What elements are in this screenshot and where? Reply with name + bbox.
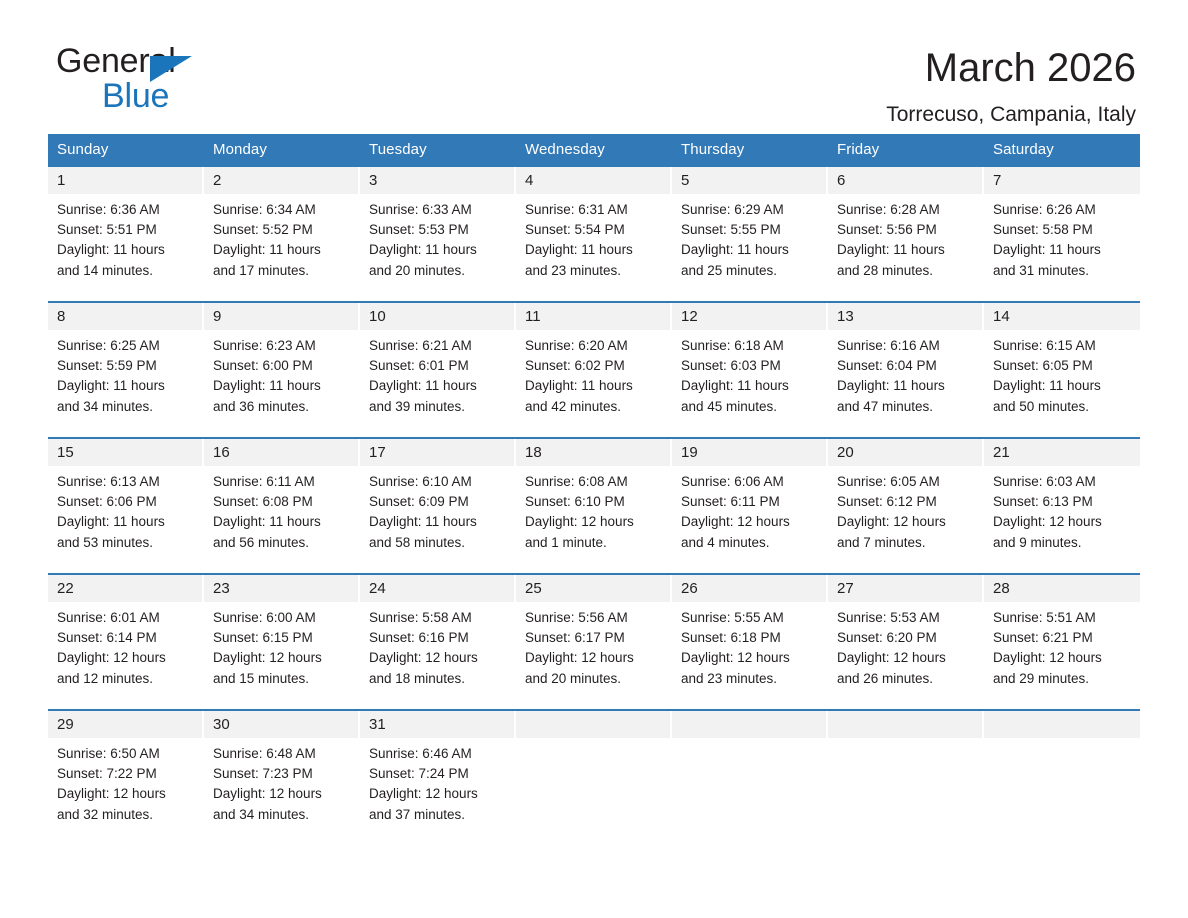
daylight-text-line2: and 25 minutes. (681, 261, 822, 281)
daylight-text-line2: and 9 minutes. (993, 533, 1134, 553)
sunset-text: Sunset: 6:18 PM (681, 628, 822, 648)
day-cell: Sunrise: 6:00 AM Sunset: 6:15 PM Dayligh… (204, 602, 360, 709)
sunrise-text: Sunrise: 6:00 AM (213, 608, 354, 628)
day-cell: Sunrise: 6:15 AM Sunset: 6:05 PM Dayligh… (984, 330, 1140, 437)
daylight-text-line2: and 50 minutes. (993, 397, 1134, 417)
day-cell: Sunrise: 6:48 AM Sunset: 7:23 PM Dayligh… (204, 738, 360, 845)
day-cell: Sunrise: 6:33 AM Sunset: 5:53 PM Dayligh… (360, 194, 516, 301)
day-info-row: Sunrise: 6:50 AM Sunset: 7:22 PM Dayligh… (48, 738, 1140, 845)
day-number[interactable]: 28 (984, 575, 1140, 602)
daylight-text-line1: Daylight: 12 hours (681, 648, 822, 668)
sunset-text: Sunset: 5:58 PM (993, 220, 1134, 240)
daylight-text-line1: Daylight: 12 hours (837, 512, 978, 532)
day-cell: Sunrise: 6:21 AM Sunset: 6:01 PM Dayligh… (360, 330, 516, 437)
weekday-header-thursday: Thursday (672, 134, 828, 165)
sunrise-text: Sunrise: 6:48 AM (213, 744, 354, 764)
day-cell: Sunrise: 5:53 AM Sunset: 6:20 PM Dayligh… (828, 602, 984, 709)
daylight-text-line2: and 15 minutes. (213, 669, 354, 689)
sunset-text: Sunset: 6:06 PM (57, 492, 198, 512)
sunset-text: Sunset: 5:55 PM (681, 220, 822, 240)
day-number-empty (984, 711, 1140, 738)
day-number[interactable]: 10 (360, 303, 516, 330)
calendar-week-row: 8 9 10 11 12 13 14 Sunrise: 6:25 AM Suns… (48, 301, 1140, 437)
day-number[interactable]: 8 (48, 303, 204, 330)
daylight-text-line1: Daylight: 11 hours (993, 376, 1134, 396)
daylight-text-line1: Daylight: 12 hours (213, 784, 354, 804)
sunset-text: Sunset: 6:21 PM (993, 628, 1134, 648)
day-cell-empty (672, 738, 828, 845)
day-number-row: 29 30 31 (48, 711, 1140, 738)
sunrise-text: Sunrise: 6:13 AM (57, 472, 198, 492)
sunset-text: Sunset: 5:52 PM (213, 220, 354, 240)
calendar-week-row: 22 23 24 25 26 27 28 Sunrise: 6:01 AM Su… (48, 573, 1140, 709)
daylight-text-line2: and 36 minutes. (213, 397, 354, 417)
daylight-text-line2: and 34 minutes. (213, 805, 354, 825)
daylight-text-line1: Daylight: 11 hours (837, 376, 978, 396)
sunrise-text: Sunrise: 6:36 AM (57, 200, 198, 220)
sunrise-text: Sunrise: 6:34 AM (213, 200, 354, 220)
sunrise-text: Sunrise: 5:53 AM (837, 608, 978, 628)
sunrise-text: Sunrise: 6:26 AM (993, 200, 1134, 220)
sunset-text: Sunset: 6:14 PM (57, 628, 198, 648)
day-cell: Sunrise: 6:26 AM Sunset: 5:58 PM Dayligh… (984, 194, 1140, 301)
calendar-week-row: 29 30 31 Sunrise: 6:50 AM Sunset: 7:22 P… (48, 709, 1140, 845)
day-number[interactable]: 23 (204, 575, 360, 602)
day-cell-empty (984, 738, 1140, 845)
sunset-text: Sunset: 5:51 PM (57, 220, 198, 240)
day-cell: Sunrise: 6:25 AM Sunset: 5:59 PM Dayligh… (48, 330, 204, 437)
sunrise-text: Sunrise: 6:10 AM (369, 472, 510, 492)
day-number[interactable]: 27 (828, 575, 984, 602)
day-number[interactable]: 14 (984, 303, 1140, 330)
daylight-text-line1: Daylight: 12 hours (213, 648, 354, 668)
daylight-text-line2: and 18 minutes. (369, 669, 510, 689)
day-number[interactable]: 20 (828, 439, 984, 466)
sunrise-text: Sunrise: 6:23 AM (213, 336, 354, 356)
weekday-header-row: Sunday Monday Tuesday Wednesday Thursday… (48, 134, 1140, 165)
daylight-text-line1: Daylight: 11 hours (525, 376, 666, 396)
daylight-text-line1: Daylight: 11 hours (57, 376, 198, 396)
page-title: March 2026 (886, 46, 1136, 91)
day-cell: Sunrise: 5:58 AM Sunset: 6:16 PM Dayligh… (360, 602, 516, 709)
day-number-row: 8 9 10 11 12 13 14 (48, 303, 1140, 330)
day-number-row: 1 2 3 4 5 6 7 (48, 167, 1140, 194)
day-info-row: Sunrise: 6:01 AM Sunset: 6:14 PM Dayligh… (48, 602, 1140, 709)
sunrise-text: Sunrise: 6:25 AM (57, 336, 198, 356)
calendar-table: Sunday Monday Tuesday Wednesday Thursday… (48, 134, 1140, 845)
day-number[interactable]: 21 (984, 439, 1140, 466)
sunset-text: Sunset: 6:03 PM (681, 356, 822, 376)
daylight-text-line2: and 34 minutes. (57, 397, 198, 417)
sunrise-text: Sunrise: 6:50 AM (57, 744, 198, 764)
sunset-text: Sunset: 6:11 PM (681, 492, 822, 512)
day-number[interactable]: 13 (828, 303, 984, 330)
daylight-text-line2: and 37 minutes. (369, 805, 510, 825)
day-cell: Sunrise: 6:08 AM Sunset: 6:10 PM Dayligh… (516, 466, 672, 573)
day-cell: Sunrise: 6:28 AM Sunset: 5:56 PM Dayligh… (828, 194, 984, 301)
day-info-row: Sunrise: 6:13 AM Sunset: 6:06 PM Dayligh… (48, 466, 1140, 573)
sunset-text: Sunset: 6:04 PM (837, 356, 978, 376)
sunrise-text: Sunrise: 6:29 AM (681, 200, 822, 220)
sunset-text: Sunset: 5:53 PM (369, 220, 510, 240)
daylight-text-line1: Daylight: 11 hours (369, 376, 510, 396)
sunrise-text: Sunrise: 6:01 AM (57, 608, 198, 628)
day-number[interactable]: 11 (516, 303, 672, 330)
daylight-text-line2: and 4 minutes. (681, 533, 822, 553)
sunrise-text: Sunrise: 6:16 AM (837, 336, 978, 356)
day-number[interactable]: 1 (48, 167, 204, 194)
daylight-text-line2: and 12 minutes. (57, 669, 198, 689)
day-number[interactable]: 16 (204, 439, 360, 466)
sunrise-text: Sunrise: 6:20 AM (525, 336, 666, 356)
sunrise-text: Sunrise: 6:46 AM (369, 744, 510, 764)
weekday-header-wednesday: Wednesday (516, 134, 672, 165)
sunrise-text: Sunrise: 6:11 AM (213, 472, 354, 492)
day-number[interactable]: 4 (516, 167, 672, 194)
daylight-text-line1: Daylight: 11 hours (57, 512, 198, 532)
daylight-text-line1: Daylight: 12 hours (837, 648, 978, 668)
sunset-text: Sunset: 6:13 PM (993, 492, 1134, 512)
day-cell: Sunrise: 6:31 AM Sunset: 5:54 PM Dayligh… (516, 194, 672, 301)
daylight-text-line2: and 28 minutes. (837, 261, 978, 281)
day-number[interactable]: 30 (204, 711, 360, 738)
daylight-text-line2: and 26 minutes. (837, 669, 978, 689)
sunset-text: Sunset: 6:00 PM (213, 356, 354, 376)
sunset-text: Sunset: 6:17 PM (525, 628, 666, 648)
daylight-text-line2: and 14 minutes. (57, 261, 198, 281)
daylight-text-line2: and 42 minutes. (525, 397, 666, 417)
title-block: March 2026 Torrecuso, Campania, Italy (886, 44, 1136, 127)
daylight-text-line1: Daylight: 12 hours (993, 512, 1134, 532)
day-number[interactable]: 19 (672, 439, 828, 466)
day-cell: Sunrise: 6:29 AM Sunset: 5:55 PM Dayligh… (672, 194, 828, 301)
logo-text-blue: Blue (102, 79, 169, 113)
day-number-empty (672, 711, 828, 738)
sunrise-text: Sunrise: 6:18 AM (681, 336, 822, 356)
day-cell-empty (516, 738, 672, 845)
calendar-week-row: 1 2 3 4 5 6 7 Sunrise: 6:36 AM Sunset: 5… (48, 165, 1140, 301)
location-subtitle: Torrecuso, Campania, Italy (886, 103, 1136, 127)
daylight-text-line1: Daylight: 11 hours (369, 240, 510, 260)
day-number[interactable]: 6 (828, 167, 984, 194)
daylight-text-line1: Daylight: 11 hours (213, 240, 354, 260)
generalblue-logo: General Blue (56, 44, 216, 116)
day-cell: Sunrise: 6:18 AM Sunset: 6:03 PM Dayligh… (672, 330, 828, 437)
day-number[interactable]: 22 (48, 575, 204, 602)
sunset-text: Sunset: 7:24 PM (369, 764, 510, 784)
sunrise-text: Sunrise: 5:56 AM (525, 608, 666, 628)
day-cell: Sunrise: 6:11 AM Sunset: 6:08 PM Dayligh… (204, 466, 360, 573)
daylight-text-line1: Daylight: 12 hours (993, 648, 1134, 668)
sunrise-text: Sunrise: 6:28 AM (837, 200, 978, 220)
day-cell: Sunrise: 6:36 AM Sunset: 5:51 PM Dayligh… (48, 194, 204, 301)
sunrise-text: Sunrise: 6:33 AM (369, 200, 510, 220)
day-number[interactable]: 9 (204, 303, 360, 330)
daylight-text-line1: Daylight: 12 hours (369, 648, 510, 668)
sunrise-text: Sunrise: 6:15 AM (993, 336, 1134, 356)
daylight-text-line2: and 23 minutes. (525, 261, 666, 281)
day-number[interactable]: 24 (360, 575, 516, 602)
day-number-empty (516, 711, 672, 738)
sunset-text: Sunset: 6:12 PM (837, 492, 978, 512)
day-cell: Sunrise: 6:46 AM Sunset: 7:24 PM Dayligh… (360, 738, 516, 845)
day-number[interactable]: 26 (672, 575, 828, 602)
daylight-text-line1: Daylight: 12 hours (525, 648, 666, 668)
sunset-text: Sunset: 7:23 PM (213, 764, 354, 784)
daylight-text-line2: and 29 minutes. (993, 669, 1134, 689)
sunrise-text: Sunrise: 6:31 AM (525, 200, 666, 220)
day-number-row: 15 16 17 18 19 20 21 (48, 439, 1140, 466)
page-header: General Blue March 2026 Torrecuso, Campa… (0, 0, 1188, 118)
day-cell: Sunrise: 6:34 AM Sunset: 5:52 PM Dayligh… (204, 194, 360, 301)
sunset-text: Sunset: 6:16 PM (369, 628, 510, 648)
day-number[interactable]: 12 (672, 303, 828, 330)
daylight-text-line1: Daylight: 11 hours (993, 240, 1134, 260)
day-number[interactable]: 2 (204, 167, 360, 194)
sunset-text: Sunset: 5:59 PM (57, 356, 198, 376)
day-info-row: Sunrise: 6:25 AM Sunset: 5:59 PM Dayligh… (48, 330, 1140, 437)
day-number-empty (828, 711, 984, 738)
sunrise-text: Sunrise: 5:58 AM (369, 608, 510, 628)
daylight-text-line1: Daylight: 11 hours (57, 240, 198, 260)
sunset-text: Sunset: 6:20 PM (837, 628, 978, 648)
daylight-text-line2: and 23 minutes. (681, 669, 822, 689)
daylight-text-line2: and 1 minute. (525, 533, 666, 553)
day-number-row: 22 23 24 25 26 27 28 (48, 575, 1140, 602)
daylight-text-line2: and 53 minutes. (57, 533, 198, 553)
daylight-text-line2: and 32 minutes. (57, 805, 198, 825)
weekday-header-sunday: Sunday (48, 134, 204, 165)
sunset-text: Sunset: 6:01 PM (369, 356, 510, 376)
day-number[interactable]: 18 (516, 439, 672, 466)
daylight-text-line1: Daylight: 11 hours (681, 376, 822, 396)
day-number[interactable]: 7 (984, 167, 1140, 194)
daylight-text-line1: Daylight: 12 hours (681, 512, 822, 532)
day-number[interactable]: 25 (516, 575, 672, 602)
day-cell: Sunrise: 6:20 AM Sunset: 6:02 PM Dayligh… (516, 330, 672, 437)
day-cell: Sunrise: 5:55 AM Sunset: 6:18 PM Dayligh… (672, 602, 828, 709)
daylight-text-line2: and 56 minutes. (213, 533, 354, 553)
sunset-text: Sunset: 5:56 PM (837, 220, 978, 240)
sunset-text: Sunset: 6:10 PM (525, 492, 666, 512)
daylight-text-line1: Daylight: 12 hours (525, 512, 666, 532)
day-info-row: Sunrise: 6:36 AM Sunset: 5:51 PM Dayligh… (48, 194, 1140, 301)
day-cell: Sunrise: 6:13 AM Sunset: 6:06 PM Dayligh… (48, 466, 204, 573)
day-number[interactable]: 17 (360, 439, 516, 466)
daylight-text-line1: Daylight: 11 hours (213, 512, 354, 532)
daylight-text-line1: Daylight: 12 hours (57, 784, 198, 804)
sunrise-text: Sunrise: 6:03 AM (993, 472, 1134, 492)
day-cell: Sunrise: 6:50 AM Sunset: 7:22 PM Dayligh… (48, 738, 204, 845)
day-number[interactable]: 15 (48, 439, 204, 466)
daylight-text-line2: and 58 minutes. (369, 533, 510, 553)
daylight-text-line1: Daylight: 11 hours (681, 240, 822, 260)
calendar-page: General Blue March 2026 Torrecuso, Campa… (0, 0, 1188, 918)
weekday-header-saturday: Saturday (984, 134, 1140, 165)
day-cell-empty (828, 738, 984, 845)
daylight-text-line1: Daylight: 12 hours (57, 648, 198, 668)
sunset-text: Sunset: 7:22 PM (57, 764, 198, 784)
daylight-text-line2: and 39 minutes. (369, 397, 510, 417)
sunrise-text: Sunrise: 6:05 AM (837, 472, 978, 492)
daylight-text-line2: and 17 minutes. (213, 261, 354, 281)
daylight-text-line2: and 45 minutes. (681, 397, 822, 417)
day-cell: Sunrise: 6:10 AM Sunset: 6:09 PM Dayligh… (360, 466, 516, 573)
sunrise-text: Sunrise: 5:55 AM (681, 608, 822, 628)
daylight-text-line1: Daylight: 11 hours (213, 376, 354, 396)
sunset-text: Sunset: 6:08 PM (213, 492, 354, 512)
day-cell: Sunrise: 6:05 AM Sunset: 6:12 PM Dayligh… (828, 466, 984, 573)
day-number[interactable]: 29 (48, 711, 204, 738)
weekday-header-monday: Monday (204, 134, 360, 165)
sunrise-text: Sunrise: 5:51 AM (993, 608, 1134, 628)
daylight-text-line1: Daylight: 12 hours (369, 784, 510, 804)
sunset-text: Sunset: 6:02 PM (525, 356, 666, 376)
sunrise-text: Sunrise: 6:06 AM (681, 472, 822, 492)
sunrise-text: Sunrise: 6:08 AM (525, 472, 666, 492)
daylight-text-line1: Daylight: 11 hours (369, 512, 510, 532)
day-number[interactable]: 3 (360, 167, 516, 194)
day-cell: Sunrise: 5:56 AM Sunset: 6:17 PM Dayligh… (516, 602, 672, 709)
day-cell: Sunrise: 6:01 AM Sunset: 6:14 PM Dayligh… (48, 602, 204, 709)
daylight-text-line1: Daylight: 11 hours (525, 240, 666, 260)
daylight-text-line2: and 20 minutes. (525, 669, 666, 689)
day-cell: Sunrise: 6:06 AM Sunset: 6:11 PM Dayligh… (672, 466, 828, 573)
daylight-text-line2: and 31 minutes. (993, 261, 1134, 281)
daylight-text-line1: Daylight: 11 hours (837, 240, 978, 260)
day-cell: Sunrise: 6:23 AM Sunset: 6:00 PM Dayligh… (204, 330, 360, 437)
calendar-week-row: 15 16 17 18 19 20 21 Sunrise: 6:13 AM Su… (48, 437, 1140, 573)
daylight-text-line2: and 7 minutes. (837, 533, 978, 553)
day-cell: Sunrise: 6:03 AM Sunset: 6:13 PM Dayligh… (984, 466, 1140, 573)
day-number[interactable]: 31 (360, 711, 516, 738)
daylight-text-line2: and 47 minutes. (837, 397, 978, 417)
weekday-header-tuesday: Tuesday (360, 134, 516, 165)
day-cell: Sunrise: 5:51 AM Sunset: 6:21 PM Dayligh… (984, 602, 1140, 709)
day-cell: Sunrise: 6:16 AM Sunset: 6:04 PM Dayligh… (828, 330, 984, 437)
sunset-text: Sunset: 6:15 PM (213, 628, 354, 648)
sunset-text: Sunset: 5:54 PM (525, 220, 666, 240)
day-number[interactable]: 5 (672, 167, 828, 194)
weekday-header-friday: Friday (828, 134, 984, 165)
sunset-text: Sunset: 6:09 PM (369, 492, 510, 512)
sunrise-text: Sunrise: 6:21 AM (369, 336, 510, 356)
sunset-text: Sunset: 6:05 PM (993, 356, 1134, 376)
daylight-text-line2: and 20 minutes. (369, 261, 510, 281)
